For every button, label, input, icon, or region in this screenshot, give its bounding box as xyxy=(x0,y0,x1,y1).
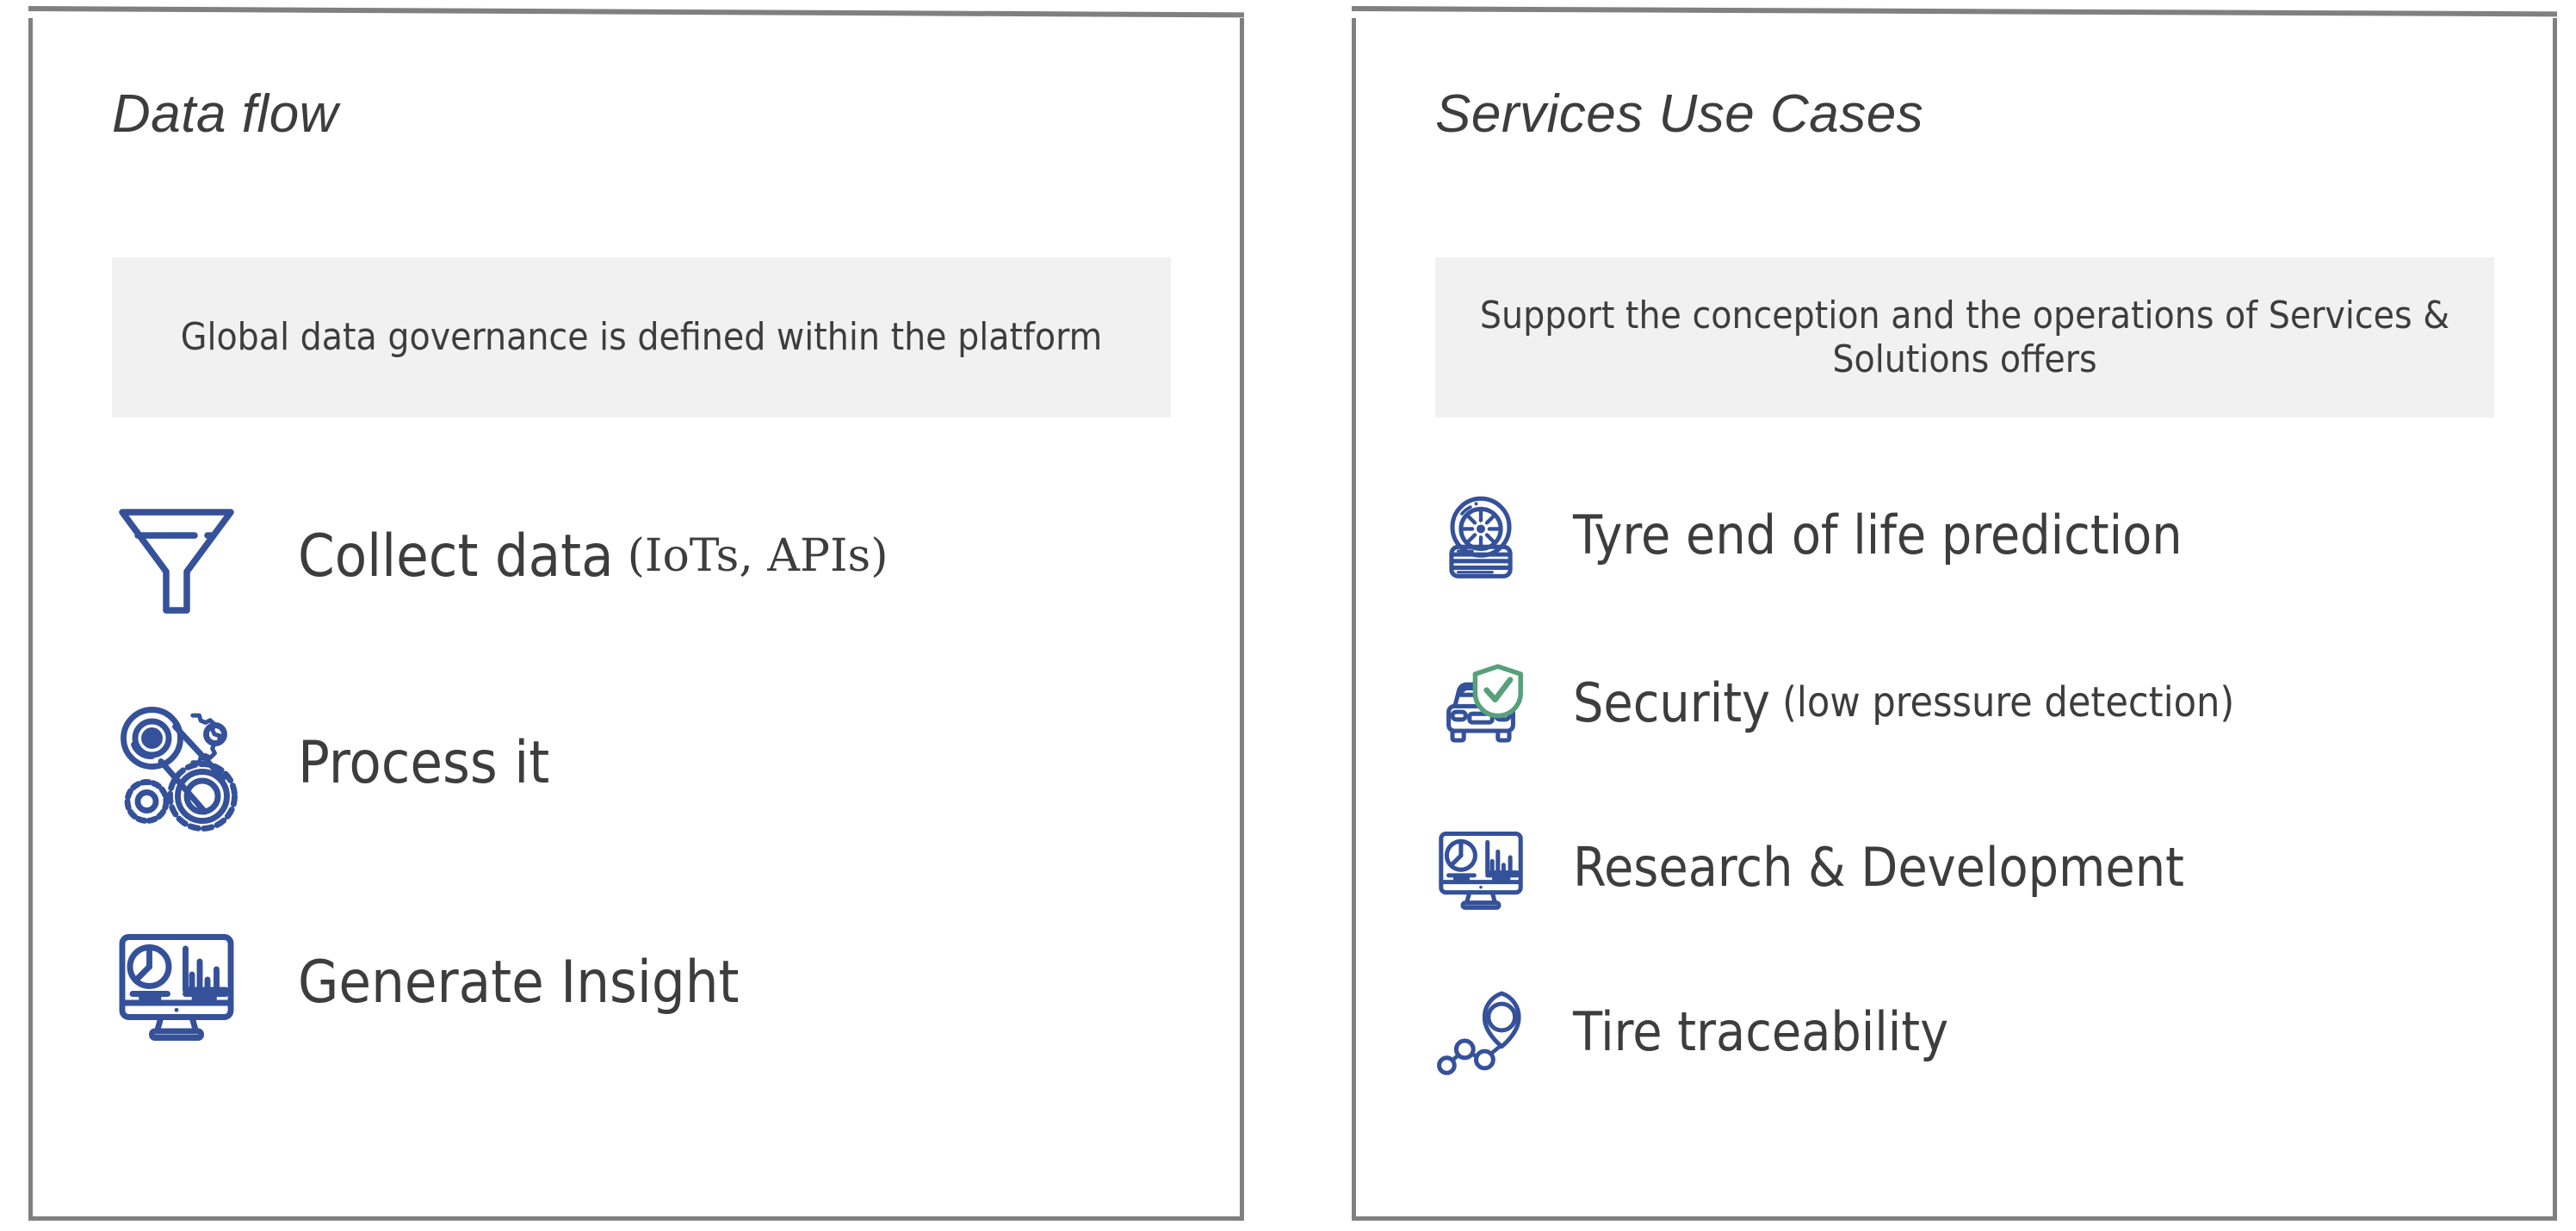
callout-text: Support the conception and the operation… xyxy=(1454,294,2475,382)
callout-data-flow: Global data governance is defined within… xyxy=(112,257,1171,418)
list-item-label: Research & Development xyxy=(1573,836,2184,899)
panel-title-services-use-cases: Services Use Cases xyxy=(1435,84,1923,145)
panel-top-border xyxy=(1352,4,2557,18)
callout-text: Global data governance is defined within… xyxy=(181,315,1102,359)
list-item-label: Generate Insight xyxy=(298,949,739,1017)
list-item[interactable]: Tire traceability xyxy=(1434,978,1960,1085)
list-item[interactable]: Process it xyxy=(112,690,563,836)
list-item-label: Tyre end of life prediction xyxy=(1573,504,2183,566)
monitor-analytics-icon xyxy=(1434,820,1528,914)
list-item-label: Tire traceability xyxy=(1573,1000,1948,1063)
list-item-sublabel: (IoTs, APIs) xyxy=(628,530,889,582)
panel-data-flow: Data flow Global data governance is defi… xyxy=(28,5,1244,1221)
funnel-icon xyxy=(112,492,241,621)
list-item[interactable]: Generate Insight xyxy=(112,909,752,1055)
list-item[interactable]: Research & Development xyxy=(1434,817,2196,917)
list-item-label: Collect data xyxy=(298,523,614,591)
list-item[interactable]: Security (low pressure detection) xyxy=(1434,651,2234,754)
list-item-label: Security xyxy=(1573,671,1770,734)
tyre-stack-icon xyxy=(1434,487,1528,582)
car-shield-icon xyxy=(1434,655,1528,750)
list-item[interactable]: Tyre end of life prediction xyxy=(1434,483,2195,586)
list-item-label: Process it xyxy=(298,729,549,797)
panel-title-data-flow: Data flow xyxy=(112,84,338,145)
panel-services-use-cases: Services Use Cases Support the conceptio… xyxy=(1352,5,2557,1221)
list-item[interactable]: Collect data (IoTs, APIs) xyxy=(112,487,888,625)
callout-services-use-cases: Support the conception and the operation… xyxy=(1435,257,2494,418)
location-path-icon xyxy=(1434,984,1528,1079)
gears-icon xyxy=(112,698,241,827)
list-item-sublabel: (low pressure detection) xyxy=(1782,678,2234,727)
slide-canvas: Data flow Global data governance is defi… xyxy=(0,0,2576,1231)
panel-top-border xyxy=(28,4,1244,18)
monitor-analytics-icon xyxy=(112,918,241,1047)
